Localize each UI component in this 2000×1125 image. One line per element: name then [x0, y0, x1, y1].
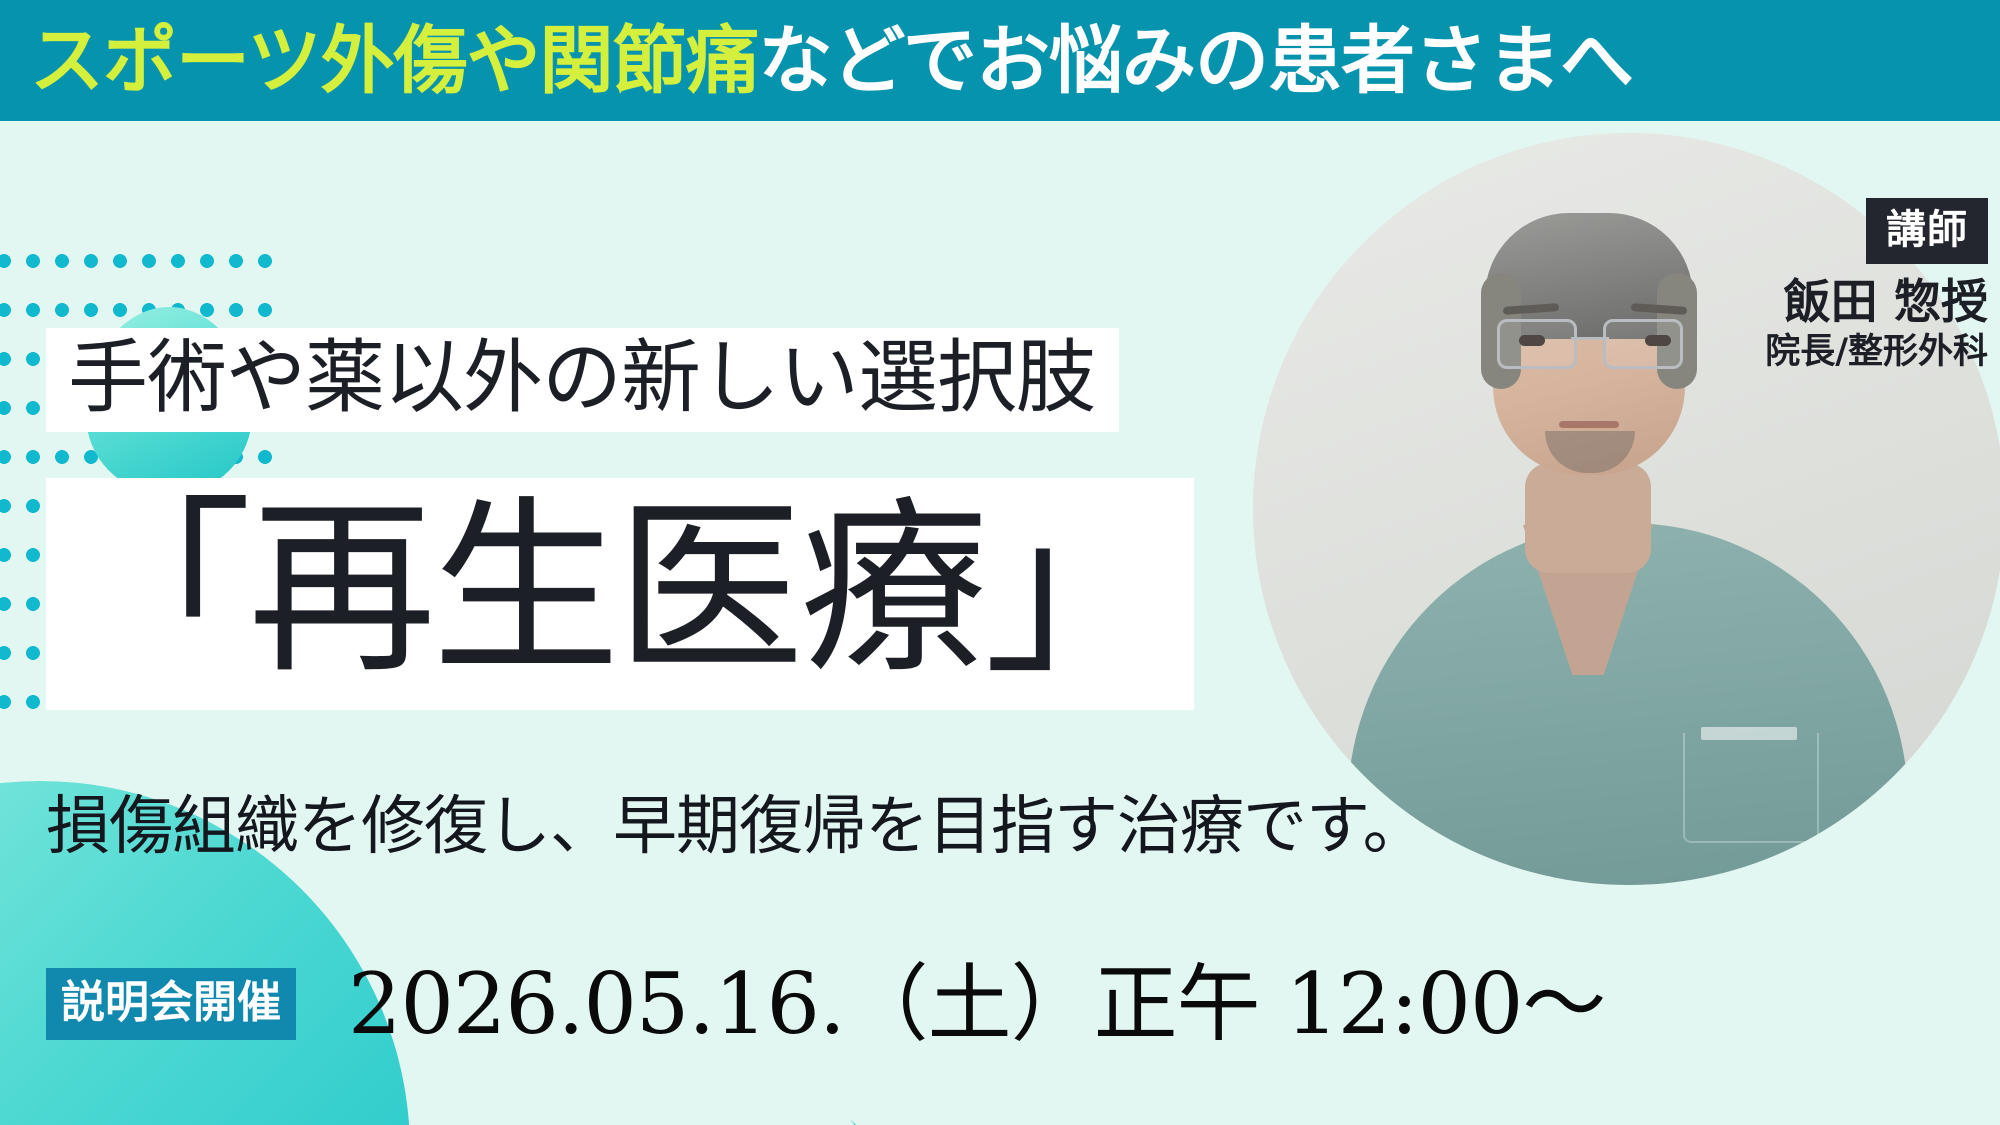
- lecturer-info-block: 講師 飯田 惣授 院長/整形外科: [1712, 198, 1988, 371]
- description-text: 損傷組織を修復し、早期復帰を目指す治療です。: [46, 792, 1426, 862]
- mouth: [1559, 421, 1619, 428]
- lecturer-name: 飯田 惣授: [1712, 278, 1988, 329]
- event-datetime: 2026.05.16.（土）正午 12:00〜: [348, 962, 1605, 1046]
- subheading-box: 手術や薬以外の新しい選択肢: [46, 328, 1119, 432]
- header-plain-text: などでお悩みの患者さまへ: [759, 18, 1634, 104]
- seminar-banner: 講師 飯田 惣授 院長/整形外科 スポーツ外傷や関節痛などでお悩みの患者さまへ …: [0, 0, 2000, 1125]
- glasses-lens-right: [1603, 319, 1683, 369]
- header-headline: スポーツ外傷や関節痛などでお悩みの患者さまへ: [30, 24, 1633, 98]
- event-date-row: 説明会開催 2026.05.16.（土）正午 12:00〜: [46, 962, 1605, 1046]
- page-title: 「再生医療」: [46, 478, 1194, 710]
- event-type-badge: 説明会開催: [46, 968, 296, 1040]
- lecturer-badge: 講師: [1866, 198, 1988, 264]
- eyeglasses-icon: [1497, 319, 1683, 363]
- neck: [1525, 463, 1651, 573]
- scrubs-chest-pocket: [1683, 733, 1819, 843]
- glasses-lens-left: [1497, 319, 1577, 369]
- header-banner-bar: スポーツ外傷や関節痛などでお悩みの患者さまへ: [0, 0, 2000, 121]
- header-accent-text: スポーツ外傷や関節痛: [30, 18, 759, 104]
- scrubs-pocket-label: [1701, 727, 1797, 740]
- lecturer-role: 院長/整形外科: [1712, 333, 1988, 372]
